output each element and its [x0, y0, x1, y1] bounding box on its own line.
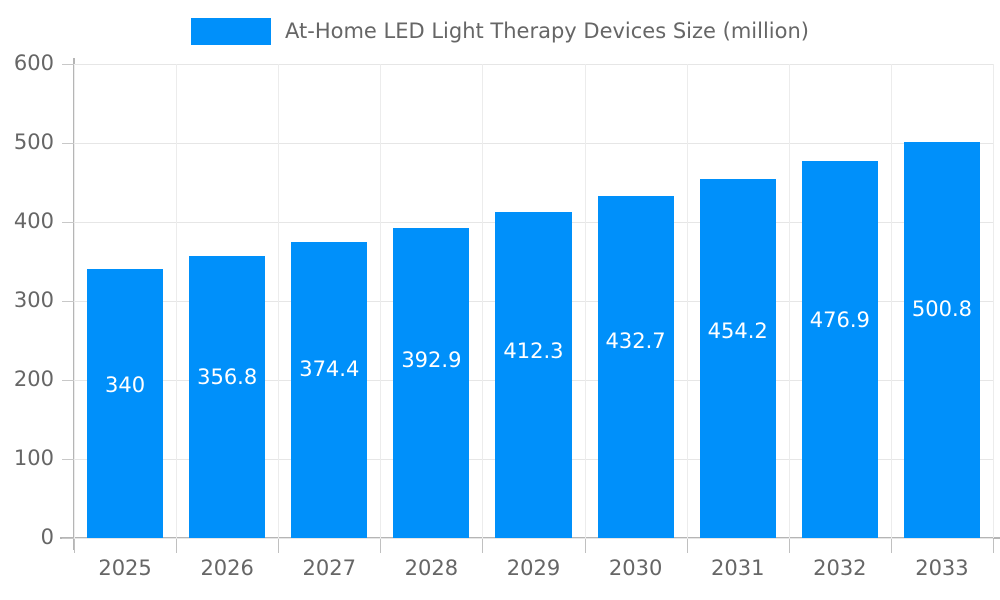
x-axis-tick-mark: [993, 539, 994, 553]
x-axis-tick-mark: [482, 539, 483, 553]
y-axis-tick-label: 0: [41, 527, 54, 548]
x-axis-tick-label: 2026: [176, 558, 278, 579]
y-axis-tick-label: 300: [14, 290, 54, 311]
bar-value-label: 454.2: [687, 321, 789, 342]
y-axis-tick-mark: [62, 538, 74, 539]
bar[interactable]: [598, 196, 674, 538]
bar-value-label: 412.3: [482, 341, 584, 362]
bar[interactable]: [700, 179, 776, 538]
gridline-vertical: [176, 64, 177, 538]
bar-value-label: 432.7: [585, 331, 687, 352]
chart-legend: At-Home LED Light Therapy Devices Size (…: [0, 10, 1000, 52]
legend-label: At-Home LED Light Therapy Devices Size (…: [285, 21, 809, 42]
x-axis-tick-mark: [74, 539, 75, 553]
plot-area: [74, 64, 993, 538]
bar-value-label: 340: [74, 375, 176, 396]
gridline-vertical: [74, 64, 75, 538]
bar[interactable]: [189, 256, 265, 538]
bar[interactable]: [291, 242, 367, 538]
x-axis-tick-label: 2033: [891, 558, 993, 579]
bar-value-label: 500.8: [891, 299, 993, 320]
x-axis-tick-mark: [891, 539, 892, 553]
gridline-horizontal: [74, 538, 993, 539]
gridline-horizontal: [74, 64, 993, 65]
bar-value-label: 392.9: [380, 350, 482, 371]
y-axis-tick-mark: [62, 459, 74, 460]
y-axis-tick-label: 400: [14, 211, 54, 232]
y-axis-tick-mark: [62, 380, 74, 381]
x-axis-tick-label: 2031: [687, 558, 789, 579]
x-axis-tick-label: 2025: [74, 558, 176, 579]
x-axis-tick-mark: [789, 539, 790, 553]
x-axis-tick-mark: [585, 539, 586, 553]
bar[interactable]: [495, 212, 571, 538]
y-axis-tick-mark: [62, 64, 74, 65]
gridline-vertical: [278, 64, 279, 538]
y-axis-tick-label: 100: [14, 448, 54, 469]
y-axis-tick-label: 600: [14, 53, 54, 74]
x-axis-tick-mark: [278, 539, 279, 553]
y-axis-tick-mark: [62, 301, 74, 302]
gridline-vertical: [380, 64, 381, 538]
y-axis-tick-label: 200: [14, 369, 54, 390]
x-axis-tick-mark: [380, 539, 381, 553]
bar[interactable]: [87, 269, 163, 538]
x-axis-tick-mark: [687, 539, 688, 553]
bar[interactable]: [393, 228, 469, 538]
x-axis-tick-label: 2032: [789, 558, 891, 579]
bar-value-label: 374.4: [278, 359, 380, 380]
gridline-vertical: [687, 64, 688, 538]
gridline-vertical: [482, 64, 483, 538]
x-axis-tick-mark: [176, 539, 177, 553]
y-axis-tick-label: 500: [14, 132, 54, 153]
gridline-vertical: [993, 64, 994, 538]
x-axis-tick-label: 2030: [585, 558, 687, 579]
y-axis-tick-mark: [62, 222, 74, 223]
gridline-vertical: [789, 64, 790, 538]
bar-value-label: 356.8: [176, 367, 278, 388]
x-axis-tick-label: 2029: [482, 558, 584, 579]
bar-chart: At-Home LED Light Therapy Devices Size (…: [0, 0, 1000, 600]
gridline-vertical: [585, 64, 586, 538]
bar-value-label: 476.9: [789, 310, 891, 331]
bar[interactable]: [802, 161, 878, 538]
x-axis-tick-label: 2027: [278, 558, 380, 579]
gridline-horizontal: [74, 143, 993, 144]
bar[interactable]: [904, 142, 980, 538]
y-axis-tick-mark: [62, 143, 74, 144]
x-axis-tick-label: 2028: [380, 558, 482, 579]
legend-color-swatch: [191, 18, 271, 45]
